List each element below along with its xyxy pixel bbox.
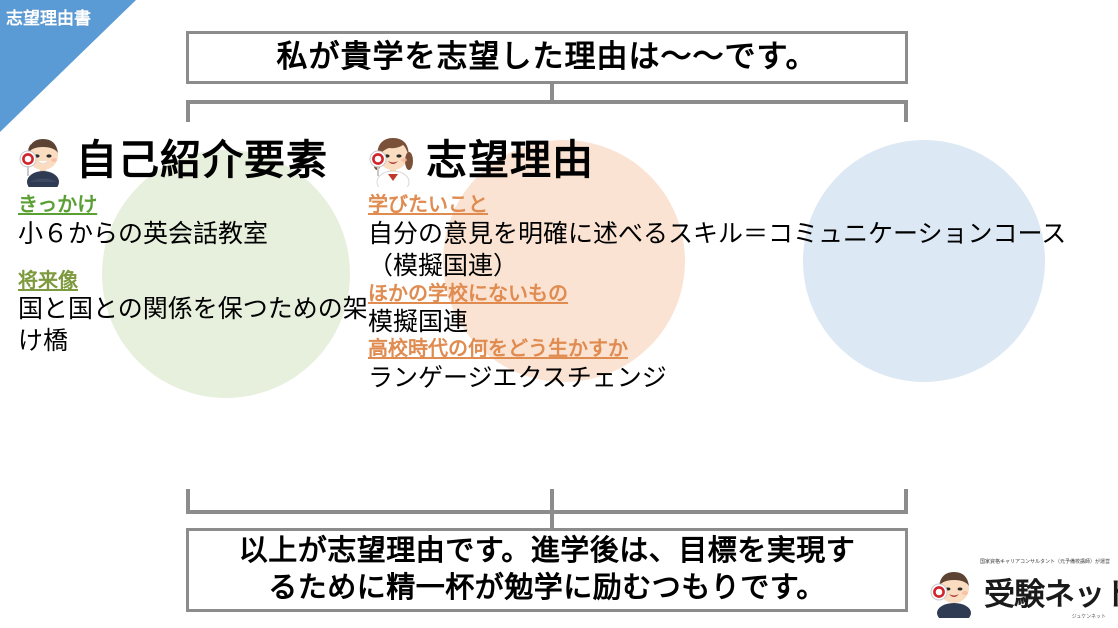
bottom-conclusion-line-1: 以上が志望理由です。進学後は、目標を実現す bbox=[239, 533, 856, 570]
boy-with-maru-sign-icon bbox=[18, 133, 68, 187]
logo-caption: 国家資格キャリアコンサルタント（元予備校講師）が運営 bbox=[980, 558, 1110, 565]
connector-tick-top-left bbox=[186, 100, 190, 122]
connector-stem-bottom bbox=[550, 489, 554, 528]
left-column-header: 自己紹介要素 bbox=[18, 132, 370, 188]
top-statement-text: 私が貴学を志望した理由は〜〜です。 bbox=[277, 40, 818, 74]
left-section-2: 将来像 国と国との関係を保つための架け橋 bbox=[18, 270, 370, 358]
slide-canvas: 志望理由書 私が貴学を志望した理由は〜〜です。 bbox=[0, 0, 1118, 628]
connector-bracket-top bbox=[186, 100, 908, 104]
middle-section-1: 学びたいこと 自分の意見を明確に述べるスキル＝コミュニケーションコース（模擬国連… bbox=[368, 194, 1068, 283]
brand-logo: 国家資格キャリアコンサルタント（元予備校講師）が運営 受験ネット ジュケンネット bbox=[928, 558, 1108, 622]
middle-section-2: ほかの学校にないもの 模擬国連 bbox=[368, 283, 1068, 339]
middle-section-3-body: ランゲージエクスチェンジ bbox=[368, 362, 1068, 394]
connector-bracket-bottom bbox=[186, 510, 908, 514]
corner-ribbon-label: 志望理由書 bbox=[6, 4, 91, 29]
middle-section-1-body: 自分の意見を明確に述べるスキル＝コミュニケーションコース（模擬国連） bbox=[368, 218, 1068, 283]
middle-section-2-body: 模擬国連 bbox=[368, 306, 1068, 338]
left-column: 自己紹介要素 きっかけ 小６からの英会話教室 将来像 国と国との関係を保つための… bbox=[18, 132, 370, 357]
middle-section-3-label: 高校時代の何をどう生かすか bbox=[368, 338, 628, 362]
connector-tick-top-right bbox=[904, 100, 908, 122]
middle-section-3: 高校時代の何をどう生かすか ランゲージエクスチェンジ bbox=[368, 338, 1068, 394]
middle-column-title: 志望理由 bbox=[426, 140, 594, 181]
bottom-conclusion-line-2: るために精一杯が勉学に励むつもりです。 bbox=[239, 570, 856, 607]
middle-column: 志望理由 学びたいこと 自分の意見を明確に述べるスキル＝コミュニケーションコース… bbox=[368, 132, 1068, 394]
girl-with-maru-sign-icon bbox=[368, 133, 418, 187]
logo-subtext: ジュケンネット bbox=[1072, 613, 1106, 620]
left-section-1: きっかけ 小６からの英会話教室 bbox=[18, 194, 370, 250]
left-column-spacer bbox=[18, 250, 370, 270]
bottom-conclusion-box: 以上が志望理由です。進学後は、目標を実現す るために精一杯が勉学に励むつもりです… bbox=[186, 528, 908, 612]
top-statement-box: 私が貴学を志望した理由は〜〜です。 bbox=[186, 31, 908, 84]
bottom-conclusion-text: 以上が志望理由です。進学後は、目標を実現す るために精一杯が勉学に励むつもりです… bbox=[239, 533, 856, 607]
middle-section-2-label: ほかの学校にないもの bbox=[368, 283, 568, 307]
logo-wordmark: 受験ネット bbox=[984, 569, 1118, 614]
left-section-2-label: 将来像 bbox=[18, 270, 78, 294]
logo-mascot-icon bbox=[928, 566, 980, 618]
left-column-title: 自己紹介要素 bbox=[76, 140, 328, 181]
middle-column-header: 志望理由 bbox=[368, 132, 1068, 188]
middle-section-1-label: 学びたいこと bbox=[368, 194, 488, 218]
left-section-1-body: 小６からの英会話教室 bbox=[18, 218, 370, 250]
left-section-2-body: 国と国との関係を保つための架け橋 bbox=[18, 293, 370, 357]
left-section-1-label: きっかけ bbox=[18, 194, 97, 218]
